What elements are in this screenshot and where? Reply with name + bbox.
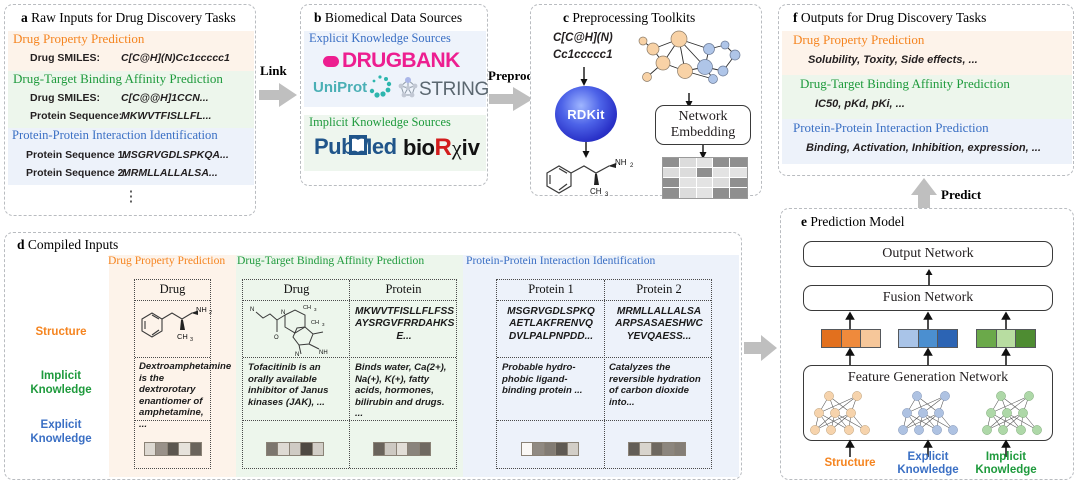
column-drug: Drug NH 2 CH 3 Dextroamphetamine is the … bbox=[134, 279, 211, 469]
link-arrow-icon bbox=[259, 82, 299, 108]
panel-c-preprocessing: c Preprocessing Toolkits C[C@H](N) Cc1cc… bbox=[530, 4, 762, 196]
section-title: Drug-Target Binding Affinity Prediction bbox=[13, 72, 223, 86]
group-title: Drug-Target Binding Affinity Prediction bbox=[237, 255, 424, 267]
svg-text:3: 3 bbox=[314, 307, 317, 312]
section-title: Drug Property Prediction bbox=[13, 32, 144, 46]
column-description: Probable hydro-phobic ligand-binding pro… bbox=[502, 362, 599, 397]
svg-text:CH: CH bbox=[590, 187, 602, 196]
panel-e-prediction-model: e Prediction Model Output Network Fusion… bbox=[780, 208, 1074, 480]
panel-e-letter: e bbox=[801, 214, 807, 229]
column-header: Drug bbox=[135, 282, 210, 297]
svg-text:O: O bbox=[274, 335, 279, 341]
panel-d-compiled-inputs: d Compiled Inputs Structure ImplicitKnow… bbox=[4, 232, 742, 480]
group-title: Drug Property Prediction bbox=[108, 255, 225, 267]
svg-text:3: 3 bbox=[605, 192, 609, 198]
rdkit-label: RDKit bbox=[567, 107, 605, 122]
implicit-knowledge-sources-block: Implicit Knowledge Sources PubMed bioRχi… bbox=[304, 115, 486, 171]
network-embedding-box: Network Embedding bbox=[655, 105, 751, 145]
panel-f-title-text: Outputs for Drug Discovery Tasks bbox=[801, 10, 987, 25]
pubmed-book-icon bbox=[349, 135, 367, 155]
column-sequence: MKWVTFISLLFLFSS AYSRGVFRRDAHKS E... bbox=[355, 306, 453, 343]
feature-vector-implicit bbox=[976, 329, 1036, 348]
svg-text:CH: CH bbox=[311, 320, 319, 326]
output-section-ppi: Protein-Protein Interaction Prediction B… bbox=[782, 119, 1072, 164]
svg-text:CH: CH bbox=[177, 332, 188, 341]
panel-f-outputs: f Outputs for Drug Discovery Tasks Drug … bbox=[778, 4, 1074, 176]
string-text: STRING bbox=[419, 79, 489, 101]
panel-b-letter: b bbox=[314, 10, 322, 25]
field-key: Protein Sequence 1: bbox=[26, 149, 127, 161]
field-key: Protein Sequence 2: bbox=[26, 167, 127, 179]
tofacitinib-structure-icon: N N O CH 3 CH 3 N NH bbox=[249, 302, 347, 358]
output-section-value: Binding, Activation, Inhibition, express… bbox=[806, 142, 1041, 154]
field-value: MKWVTFISLLFL... bbox=[121, 110, 211, 122]
panel-d-title-text: Compiled Inputs bbox=[28, 237, 118, 252]
rdkit-sphere-icon: RDKit bbox=[555, 86, 617, 142]
output-network-box: Output Network bbox=[803, 241, 1053, 267]
field-value: C[C@@H]1CCN... bbox=[121, 92, 209, 104]
column-group-dta: Drug Protein N N O CH 3 CH 3 N NH bbox=[242, 279, 457, 469]
output-section-title: Drug-Target Binding Affinity Prediction bbox=[800, 77, 1010, 91]
panel-d-letter: d bbox=[17, 237, 25, 252]
vertical-ellipsis-icon: ⋮ bbox=[5, 187, 257, 205]
section-ppi-identification: Protein-Protein Interaction Identificati… bbox=[8, 128, 254, 185]
output-section-value: IC50, pKd, pKi, ... bbox=[815, 98, 905, 110]
link-arrow-label: Link bbox=[260, 63, 287, 79]
smiles-line-1: C[C@H](N) bbox=[553, 32, 613, 44]
svg-text:3: 3 bbox=[190, 337, 193, 343]
field-value: MSGRVGDLSPKQA... bbox=[122, 149, 229, 161]
mlp-diagrams-icon bbox=[809, 387, 1049, 439]
feature-generation-network-label: Feature Generation Network bbox=[848, 370, 1008, 386]
panel-c-title-text: Preprocessing Toolkits bbox=[572, 10, 695, 25]
column-sequence: MRMLLALLALSA ARPSASAESHWC YEVQAESS... bbox=[609, 306, 709, 343]
embedding-bar bbox=[266, 442, 324, 456]
svg-text:NH: NH bbox=[196, 305, 207, 314]
compiled-to-model-arrow-icon bbox=[744, 334, 778, 362]
column-group-ppi: Protein 1 Protein 2 MSGRVGDLSPKQ AETLAKF… bbox=[496, 279, 712, 469]
string-network-icon bbox=[396, 76, 420, 100]
embedding-bar bbox=[628, 442, 686, 456]
drugbank-text: DRUGBANK bbox=[342, 49, 460, 73]
panel-a-title: a Raw Inputs for Drug Discovery Tasks bbox=[21, 10, 236, 26]
preprocess-arrow-icon bbox=[489, 86, 535, 112]
section-drug-property-prediction: Drug Property Prediction Drug SMILES: C[… bbox=[8, 31, 254, 71]
column-header: Protein bbox=[350, 282, 457, 297]
embedding-matrix-heatmap bbox=[662, 157, 748, 199]
uniprot-text: UniProt bbox=[313, 79, 367, 96]
output-section-dta: Drug-Target Binding Affinity Prediction … bbox=[782, 75, 1072, 119]
panel-c-letter: c bbox=[563, 10, 569, 25]
fusion-to-output-arrow-icon bbox=[924, 269, 934, 285]
field-key: Drug SMILES: bbox=[30, 92, 100, 104]
output-section-value: Solubility, Toxity, Side effects, ... bbox=[808, 54, 978, 66]
explicit-sources-title: Explicit Knowledge Sources bbox=[309, 32, 451, 45]
field-value: MRMLLALLALSA... bbox=[122, 167, 218, 179]
column-header: Drug bbox=[243, 282, 350, 297]
output-section-title: Protein-Protein Interaction Prediction bbox=[793, 121, 989, 135]
panel-b-data-sources: b Biomedical Data Sources Explicit Knowl… bbox=[300, 4, 488, 186]
svg-text:3: 3 bbox=[322, 322, 325, 327]
output-section-drug-property: Drug Property Prediction Solubility, Tox… bbox=[782, 31, 1072, 75]
implicit-sources-title: Implicit Knowledge Sources bbox=[309, 116, 451, 129]
svg-text:2: 2 bbox=[630, 163, 634, 169]
smiles-line-2: Cc1ccccc1 bbox=[553, 49, 612, 61]
input-label-implicit: ImplicitKnowledge bbox=[960, 451, 1052, 477]
row-label-structure: Structure bbox=[13, 326, 109, 340]
uniprot-dots-icon bbox=[367, 73, 393, 101]
column-description: Binds water, Ca(2+), Na(+), K(+), fatty … bbox=[355, 362, 453, 420]
amphetamine-structure-icon: NH 2 CH 3 bbox=[137, 302, 211, 350]
column-description: Catalyzes the reversible hydration of ca… bbox=[609, 362, 708, 408]
column-header: Protein 1 bbox=[497, 282, 605, 297]
vectors-to-fusion-arrows-icon bbox=[803, 313, 1053, 329]
svg-text:N: N bbox=[281, 310, 285, 316]
output-section-title: Drug Property Prediction bbox=[793, 33, 924, 47]
amphetamine-structure-icon: NH 2 CH 3 bbox=[539, 155, 649, 199]
graph-network-icon bbox=[627, 27, 755, 95]
svg-text:NH: NH bbox=[319, 350, 328, 356]
row-label-explicit-knowledge: ExplicitKnowledge bbox=[13, 419, 109, 446]
svg-text:2: 2 bbox=[209, 310, 212, 316]
feature-vector-structure bbox=[821, 329, 881, 348]
feature-vector-explicit bbox=[898, 329, 958, 348]
section-dta-prediction: Drug-Target Binding Affinity Prediction … bbox=[8, 71, 254, 128]
embedding-bar bbox=[373, 442, 431, 456]
panel-a-title-text: Raw Inputs for Drug Discovery Tasks bbox=[31, 10, 236, 25]
svg-text:NH: NH bbox=[615, 158, 627, 167]
row-label-implicit-knowledge: ImplicitKnowledge bbox=[13, 370, 109, 397]
output-network-label: Output Network bbox=[882, 246, 973, 262]
panel-f-letter: f bbox=[793, 10, 798, 25]
fusion-network-label: Fusion Network bbox=[883, 290, 974, 306]
field-key: Drug SMILES: bbox=[30, 52, 100, 64]
smiles-to-rdkit-arrow-icon bbox=[579, 67, 589, 87]
embedding-bar bbox=[144, 442, 202, 456]
panel-e-title-text: Prediction Model bbox=[810, 214, 904, 229]
explicit-knowledge-sources-block: Explicit Knowledge Sources DRUGBANK UniP… bbox=[304, 31, 486, 107]
network-embedding-label: Network Embedding bbox=[656, 109, 750, 140]
drugbank-logo-icon: DRUGBANK bbox=[322, 49, 460, 73]
column-header: Protein 2 bbox=[605, 282, 713, 297]
panel-b-title: b Biomedical Data Sources bbox=[314, 10, 462, 26]
fgn-to-vectors-arrows-icon bbox=[803, 349, 1053, 365]
column-sequence: MSGRVGDLSPKQ AETLAKFRENVQ DVLPALPNPDD... bbox=[501, 306, 601, 343]
field-value: C[C@H](N)Cc1ccccc1 bbox=[121, 52, 230, 64]
svg-text:N: N bbox=[250, 307, 254, 313]
panel-a-raw-inputs: a Raw Inputs for Drug Discovery Tasks Dr… bbox=[4, 4, 256, 216]
section-title: Protein-Protein Interaction Identificati… bbox=[12, 129, 218, 142]
column-description: Tofacitinib is an orally available inhib… bbox=[248, 362, 344, 408]
panel-f-title: f Outputs for Drug Discovery Tasks bbox=[793, 10, 986, 26]
biorxiv-logo-icon: bioRχiv bbox=[403, 134, 480, 162]
embedding-bar bbox=[521, 442, 579, 456]
panel-b-title-text: Biomedical Data Sources bbox=[325, 10, 462, 25]
panel-d-title: d Compiled Inputs bbox=[17, 237, 118, 253]
field-key: Protein Sequence: bbox=[30, 110, 122, 122]
predict-arrow-label: Predict bbox=[941, 187, 981, 203]
group-title: Protein-Protein Interaction Identificati… bbox=[466, 255, 655, 267]
uniprot-logo-icon: UniProt bbox=[313, 79, 367, 97]
fusion-network-box: Fusion Network bbox=[803, 285, 1053, 311]
panel-a-letter: a bbox=[21, 10, 28, 25]
panel-c-title: c Preprocessing Toolkits bbox=[563, 10, 695, 26]
panel-e-title: e Prediction Model bbox=[801, 214, 905, 230]
svg-text:CH: CH bbox=[303, 305, 311, 311]
